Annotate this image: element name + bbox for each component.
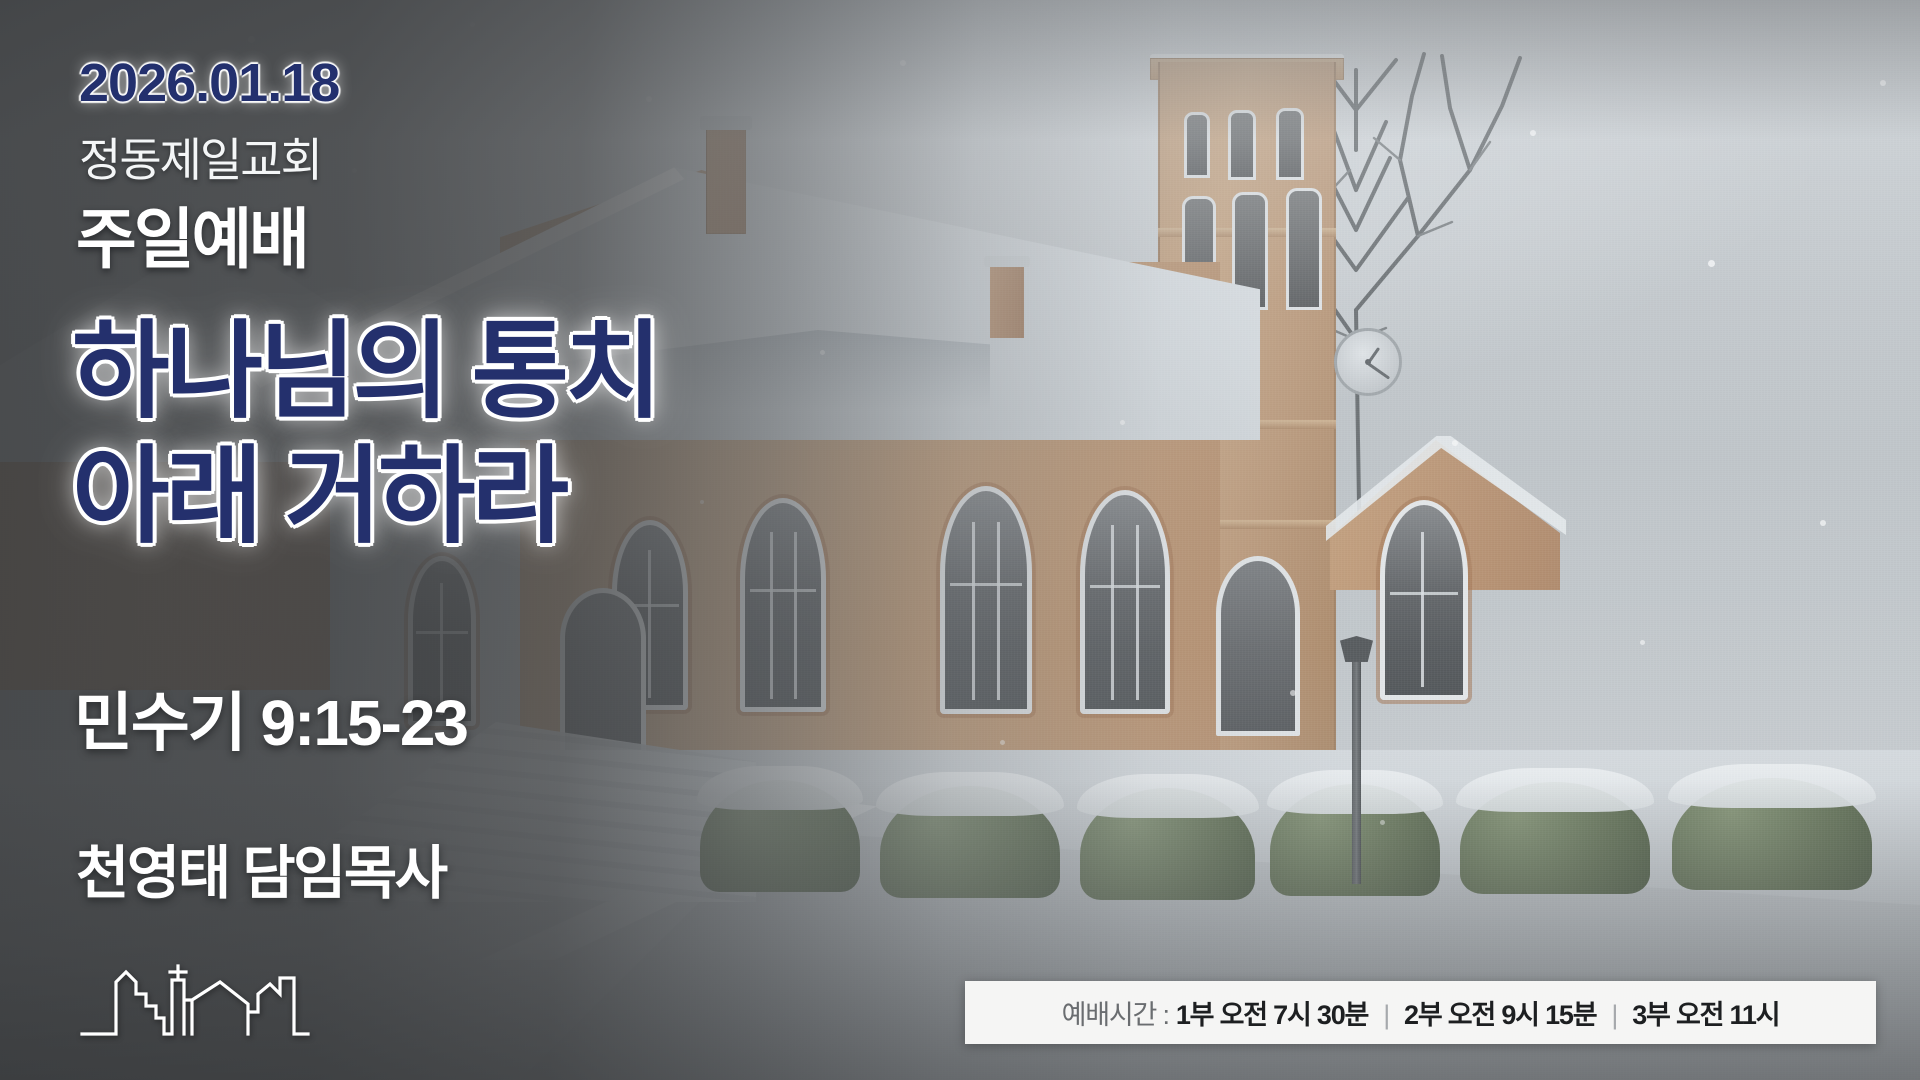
service-times-separator-1: | xyxy=(1383,1000,1389,1031)
service-time-1: 1부 오전 7시 30분 xyxy=(1176,993,1368,1032)
sermon-title-slide: 2026.01.18 정동제일교회 주일예배 하나님의 통치 아래 거하라 민수… xyxy=(0,0,1920,1080)
service-time-2: 2부 오전 9시 15분 xyxy=(1404,993,1596,1032)
preacher-name: 천영태 담임목사 xyxy=(76,826,446,910)
scripture-reference: 민수기 9:15-23 xyxy=(74,672,467,764)
service-time-3: 3부 오전 11시 xyxy=(1632,993,1779,1032)
service-times-content: 예배시간 : 1부 오전 7시 30분 | 2부 오전 9시 15분 | 3부 … xyxy=(1062,993,1780,1032)
service-times-bar: 예배시간 : 1부 오전 7시 30분 | 2부 오전 9시 15분 | 3부 … xyxy=(965,981,1876,1044)
sermon-title-line-2: 아래 거하라 xyxy=(72,435,659,560)
service-times-label: 예배시간 : xyxy=(1062,993,1169,1032)
sermon-title-line-1: 하나님의 통치 xyxy=(72,310,659,435)
church-name: 정동제일교회 xyxy=(79,124,321,190)
service-type: 주일예배 xyxy=(76,186,307,282)
sermon-title: 하나님의 통치 아래 거하라 xyxy=(72,310,659,560)
church-skyline-logo-icon xyxy=(80,960,310,1050)
service-times-separator-2: | xyxy=(1611,1000,1617,1031)
text-layer: 2026.01.18 정동제일교회 주일예배 하나님의 통치 아래 거하라 민수… xyxy=(0,0,1920,1080)
service-date: 2026.01.18 xyxy=(79,52,339,114)
